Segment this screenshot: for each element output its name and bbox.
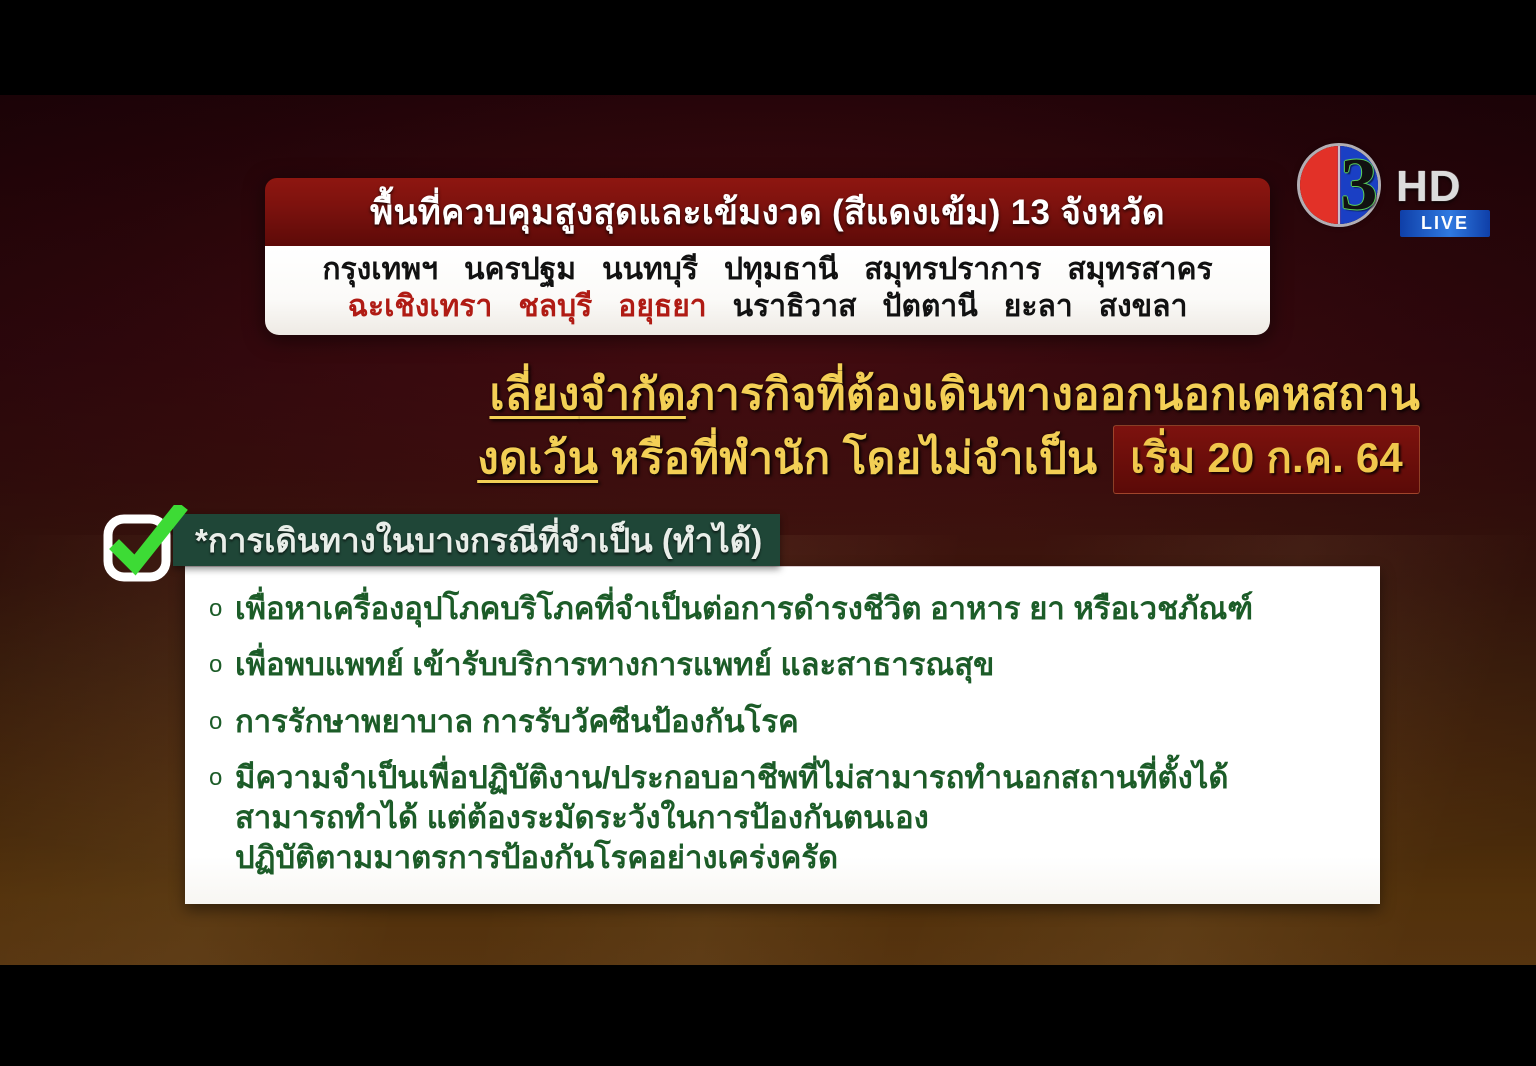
province-list: กรุงเทพฯนครปฐมนนทบุรีปทุมธานีสมุทรปราการ… (265, 246, 1270, 335)
list-item: oการรักษาพยาบาล การรับวัคซีนป้องกันโรค (209, 702, 1356, 742)
list-item: oเพื่อพบแพทย์ เข้ารับบริการทางการแพทย์ แ… (209, 645, 1356, 685)
check-mark-icon (102, 505, 188, 585)
headline-text: ภารกิจที่ต้องเดินทางออกนอกเคหสถาน (686, 366, 1420, 425)
list-item-continuation: สามารถทำได้ แต่ต้องระมัดระวังในการป้องกั… (235, 798, 1228, 838)
headline-block: เลี่ยง จำกัด ภารกิจที่ต้องเดินทางออกนอกเ… (0, 366, 1420, 494)
bullet-marker-icon: o (209, 589, 235, 629)
province-name: นครปฐม (464, 252, 576, 289)
province-name: ชลบุรี (518, 289, 592, 326)
headline-keyword: งดเว้น (477, 434, 598, 483)
channel-logo: 3 HD LIVE (1300, 146, 1490, 258)
list-item: oเพื่อหาเครื่องอุปโภคบริโภคที่จำเป็นต่อก… (209, 589, 1356, 629)
exceptions-header: *การเดินทางในบางกรณีที่จำเป็น (ทำได้) (173, 514, 780, 566)
province-name: สมุทรสาคร (1067, 252, 1212, 289)
list-item-line: การรักษาพยาบาล การรับวัคซีนป้องกันโรค (235, 702, 799, 742)
headline-line-2-text: งดเว้น หรือที่พำนัก โดยไม่จำเป็น (477, 430, 1097, 489)
exceptions-header-label: *การเดินทางในบางกรณีที่จำเป็น (ทำได้) (195, 514, 762, 567)
red-zone-title: พื้นที่ควบคุมสูงสุดและเข้มงวด (สีแดงเข้ม… (265, 178, 1270, 246)
province-name: ปัตตานี (882, 289, 977, 326)
headline-line-1: เลี่ยง จำกัด ภารกิจที่ต้องเดินทางออกนอกเ… (0, 366, 1420, 425)
province-name: นนทบุรี (602, 252, 698, 289)
headline-text: หรือที่พำนัก โดยไม่จำเป็น (598, 434, 1097, 483)
province-name: นราธิวาส (733, 289, 857, 326)
province-name: กรุงเทพฯ (322, 252, 438, 289)
headline-keyword: จำกัด (580, 366, 686, 425)
bullet-marker-icon: o (209, 645, 235, 685)
red-zone-panel: พื้นที่ควบคุมสูงสุดและเข้มงวด (สีแดงเข้ม… (265, 178, 1270, 335)
headline-keyword: เลี่ยง (489, 366, 579, 425)
live-badge: LIVE (1400, 210, 1490, 237)
list-item-line: มีความจำเป็นเพื่อปฏิบัติงาน/ประกอบอาชีพท… (235, 758, 1228, 798)
broadcast-screen: 3 HD LIVE พื้นที่ควบคุมสูงสุดและเข้มงวด … (0, 0, 1536, 1066)
list-item-text: การรักษาพยาบาล การรับวัคซีนป้องกันโรค (235, 702, 799, 742)
headline-line-2: งดเว้น หรือที่พำนัก โดยไม่จำเป็น เริ่ม 2… (0, 425, 1420, 494)
province-name: อยุธยา (618, 289, 706, 326)
channel-quality-label: HD (1396, 162, 1462, 212)
province-name: สงขลา (1099, 289, 1188, 326)
letterbox-top (0, 0, 1536, 95)
letterbox-bottom (0, 965, 1536, 1066)
bullet-marker-icon: o (209, 758, 235, 798)
province-name: สมุทรปราการ (864, 252, 1041, 289)
province-name: ฉะเชิงเทรา (348, 289, 493, 326)
effective-date-badge: เริ่ม 20 ก.ค. 64 (1113, 425, 1420, 494)
list-item: oมีความจำเป็นเพื่อปฏิบัติงาน/ประกอบอาชีพ… (209, 758, 1356, 879)
list-item-text: เพื่อพบแพทย์ เข้ารับบริการทางการแพทย์ แล… (235, 645, 994, 685)
channel-number: 3 (1320, 140, 1398, 230)
list-item-text: เพื่อหาเครื่องอุปโภคบริโภคที่จำเป็นต่อกา… (235, 589, 1253, 629)
list-item-line: เพื่อพบแพทย์ เข้ารับบริการทางการแพทย์ แล… (235, 645, 994, 685)
list-item-continuation: ปฏิบัติตามมาตรการป้องกันโรคอย่างเคร่งครั… (235, 838, 1228, 878)
list-item-line: เพื่อหาเครื่องอุปโภคบริโภคที่จำเป็นต่อกา… (235, 589, 1253, 629)
province-name: ปทุมธานี (724, 252, 838, 289)
province-row: ฉะเชิงเทราชลบุรีอยุธยานราธิวาสปัตตานียะล… (283, 289, 1252, 326)
list-item-text: มีความจำเป็นเพื่อปฏิบัติงาน/ประกอบอาชีพท… (235, 758, 1228, 879)
province-name: ยะลา (1004, 289, 1073, 326)
bullet-marker-icon: o (209, 702, 235, 742)
exceptions-card: oเพื่อหาเครื่องอุปโภคบริโภคที่จำเป็นต่อก… (185, 566, 1380, 904)
province-row: กรุงเทพฯนครปฐมนนทบุรีปทุมธานีสมุทรปราการ… (283, 252, 1252, 289)
